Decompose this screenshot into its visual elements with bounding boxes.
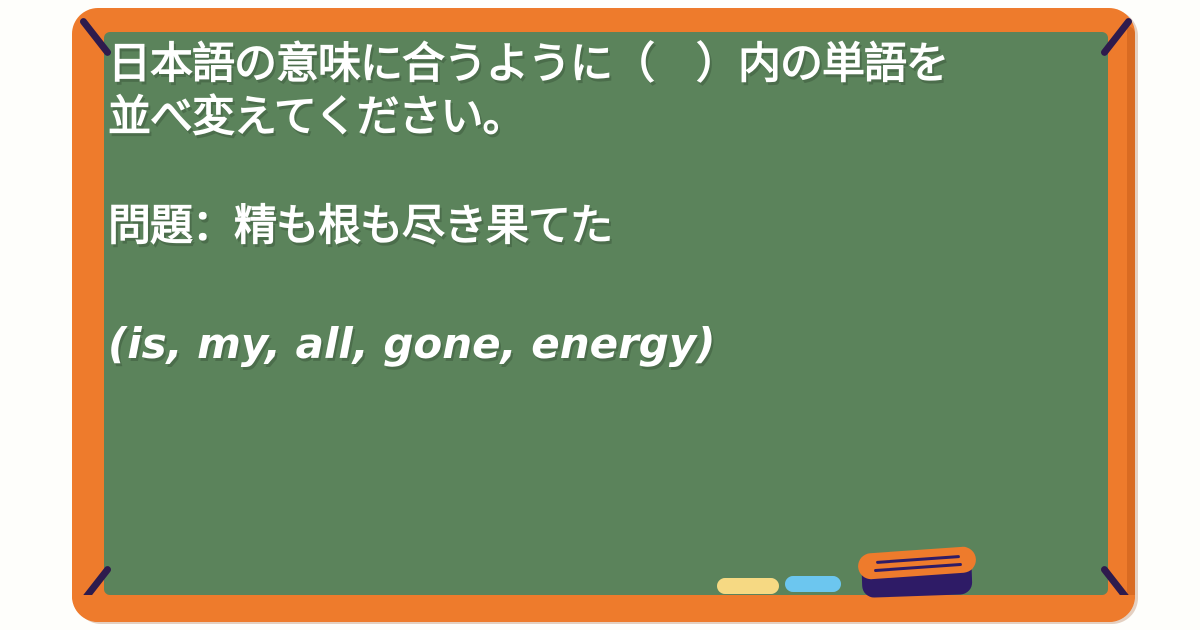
blackboard-scene: 日本語の意味に合うように（ ）内の単語を 並べ変えてください。 問題：精も根も尽… xyxy=(0,0,1200,630)
question-block: 問題：精も根も尽き果てた xyxy=(108,200,1098,253)
word-bank: (is, my, all, gone, energy) xyxy=(108,319,1098,369)
instruction-block: 日本語の意味に合うように（ ）内の単語を 並べ変えてください。 xyxy=(108,38,1098,144)
instruction-line-1: 日本語の意味に合うように（ ）内の単語を xyxy=(108,38,1098,91)
chalk-ledge xyxy=(72,595,1135,622)
question-label: 問題：精も根も尽き果てた xyxy=(108,200,1098,253)
frame-right-shadow xyxy=(1127,26,1135,604)
blackboard-eraser-icon xyxy=(858,548,976,596)
blue-chalk-icon xyxy=(785,576,841,592)
instruction-line-2: 並べ変えてください。 xyxy=(108,91,1098,144)
board-text-content: 日本語の意味に合うように（ ）内の単語を 並べ変えてください。 問題：精も根も尽… xyxy=(108,38,1098,369)
yellow-chalk-icon xyxy=(717,578,779,594)
